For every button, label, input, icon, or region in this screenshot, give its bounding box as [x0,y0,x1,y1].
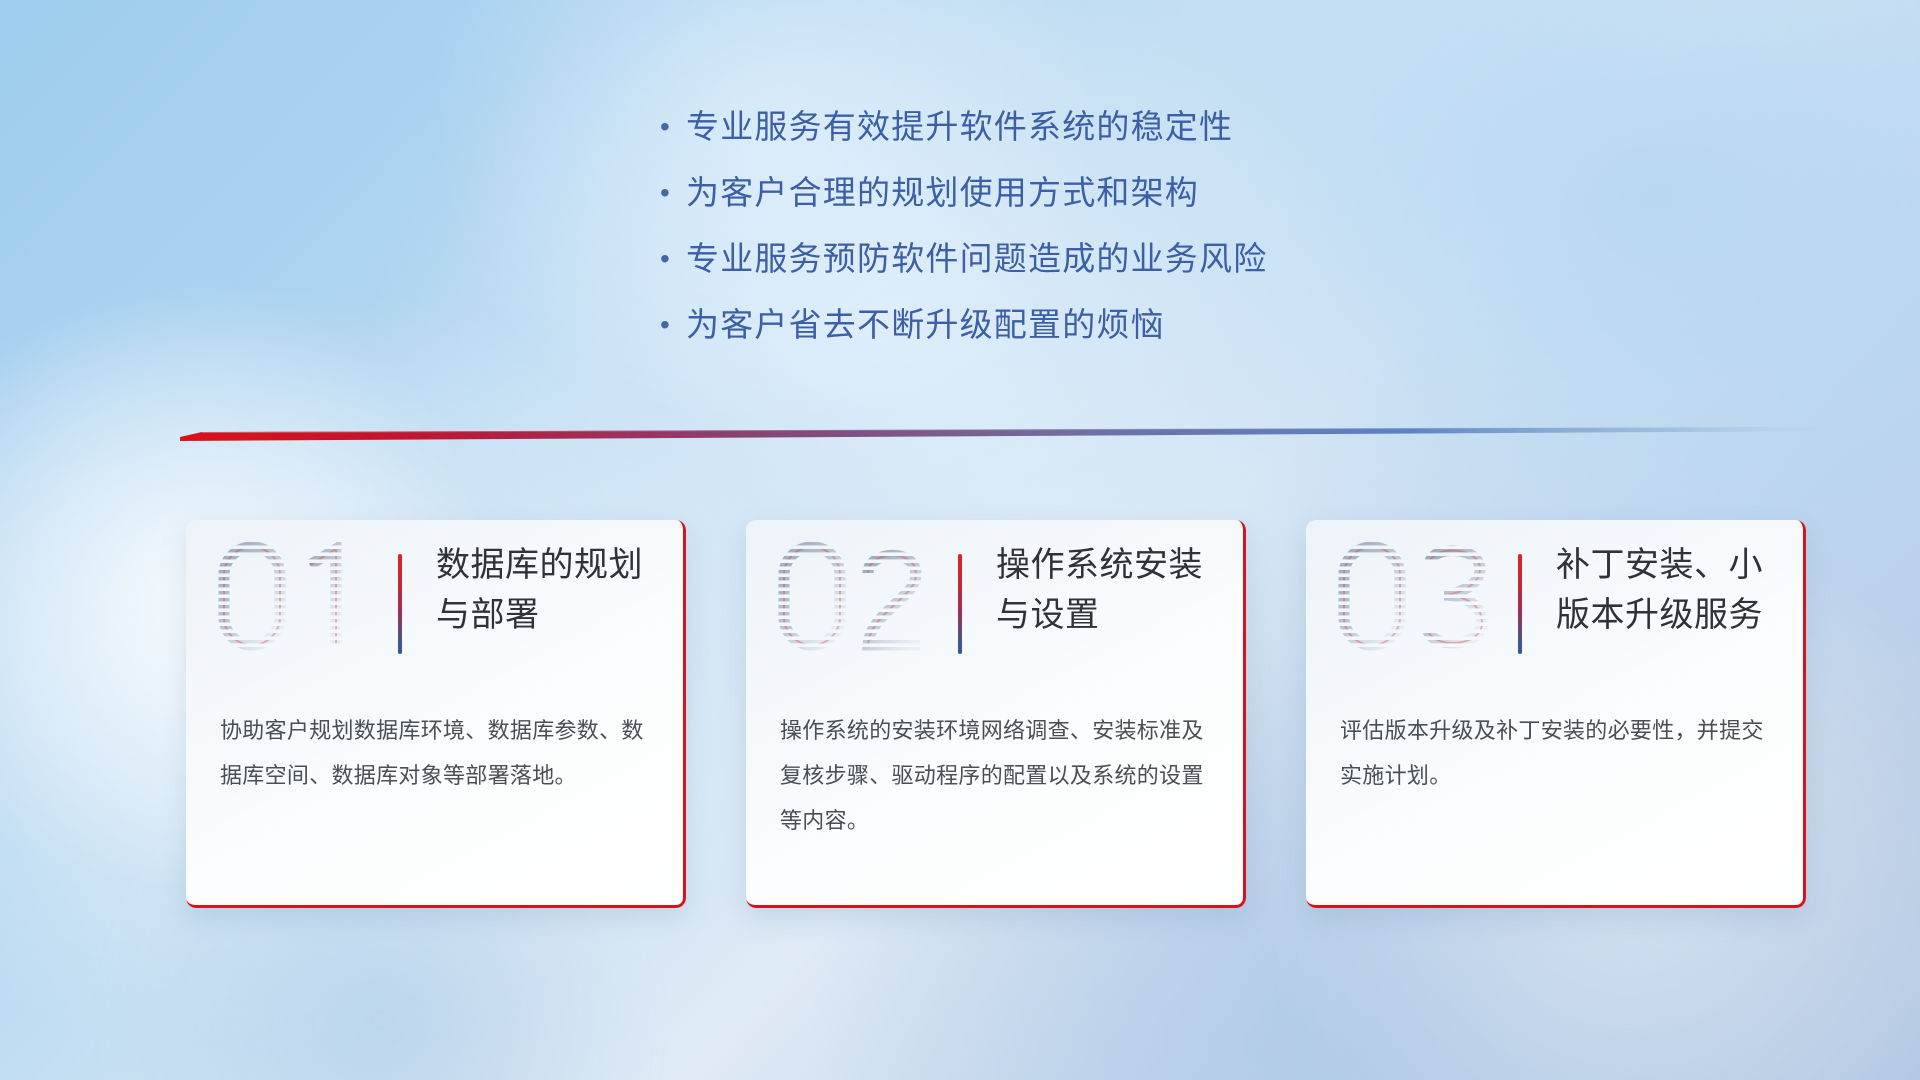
card-header: 补丁安装、小 版本升级服务 [1306,520,1806,692]
card-title-line-1: 补丁安装、小 [1556,540,1796,590]
list-item: • 专业服务有效提升软件系统的稳定性 [660,104,1560,150]
card-title-line-1: 操作系统安装 [996,540,1236,590]
list-item: • 专业服务预防软件问题造成的业务风险 [660,236,1560,282]
list-item: • 为客户合理的规划使用方式和架构 [660,170,1560,216]
bullet-dot-icon: • [660,236,686,282]
card-description: 协助客户规划数据库环境、数据库参数、数据库空间、数据库对象等部署落地。 [220,708,652,798]
card-description: 评估版本升级及补丁安装的必要性，并提交实施计划。 [1340,708,1772,798]
service-card[interactable]: 数据库的规划 与部署 协助客户规划数据库环境、数据库参数、数据库空间、数据库对象… [186,520,686,908]
bullet-dot-icon: • [660,104,686,150]
card-title-line-2: 版本升级服务 [1556,590,1796,640]
card-number-watermark-icon [768,534,958,658]
card-title: 补丁安装、小 版本升级服务 [1556,540,1796,640]
card-number-watermark-icon [1328,534,1518,658]
card-title-line-2: 与设置 [996,590,1236,640]
bullet-dot-icon: • [660,302,686,348]
card-header: 操作系统安装 与设置 [746,520,1246,692]
bullet-dot-icon: • [660,170,686,216]
slide-canvas: • 专业服务有效提升软件系统的稳定性 • 为客户合理的规划使用方式和架构 • 专… [0,0,1920,1080]
service-card[interactable]: 操作系统安装 与设置 操作系统的安装环境网络调查、安装标准及复核步骤、驱动程序的… [746,520,1246,908]
service-card[interactable]: 补丁安装、小 版本升级服务 评估版本升级及补丁安装的必要性，并提交实施计划。 [1306,520,1806,908]
bullet-text: 为客户合理的规划使用方式和架构 [686,170,1199,216]
card-number-watermark-icon [208,534,398,658]
card-header: 数据库的规划 与部署 [186,520,686,692]
section-divider [180,420,1840,442]
card-accent-bar [958,554,962,654]
card-description: 操作系统的安装环境网络调查、安装标准及复核步骤、驱动程序的配置以及系统的设置等内… [780,708,1212,843]
list-item: • 为客户省去不断升级配置的烦恼 [660,302,1560,348]
card-title-line-2: 与部署 [436,590,676,640]
bullet-text: 专业服务预防软件问题造成的业务风险 [686,236,1267,282]
card-title: 操作系统安装 与设置 [996,540,1236,640]
card-title: 数据库的规划 与部署 [436,540,676,640]
benefit-bullet-list: • 专业服务有效提升软件系统的稳定性 • 为客户合理的规划使用方式和架构 • 专… [660,104,1560,368]
service-card-group: 数据库的规划 与部署 协助客户规划数据库环境、数据库参数、数据库空间、数据库对象… [186,520,1806,920]
bullet-text: 专业服务有效提升软件系统的稳定性 [686,104,1233,150]
card-title-line-1: 数据库的规划 [436,540,676,590]
card-accent-bar [398,554,402,654]
bullet-text: 为客户省去不断升级配置的烦恼 [686,302,1165,348]
card-accent-bar [1518,554,1522,654]
